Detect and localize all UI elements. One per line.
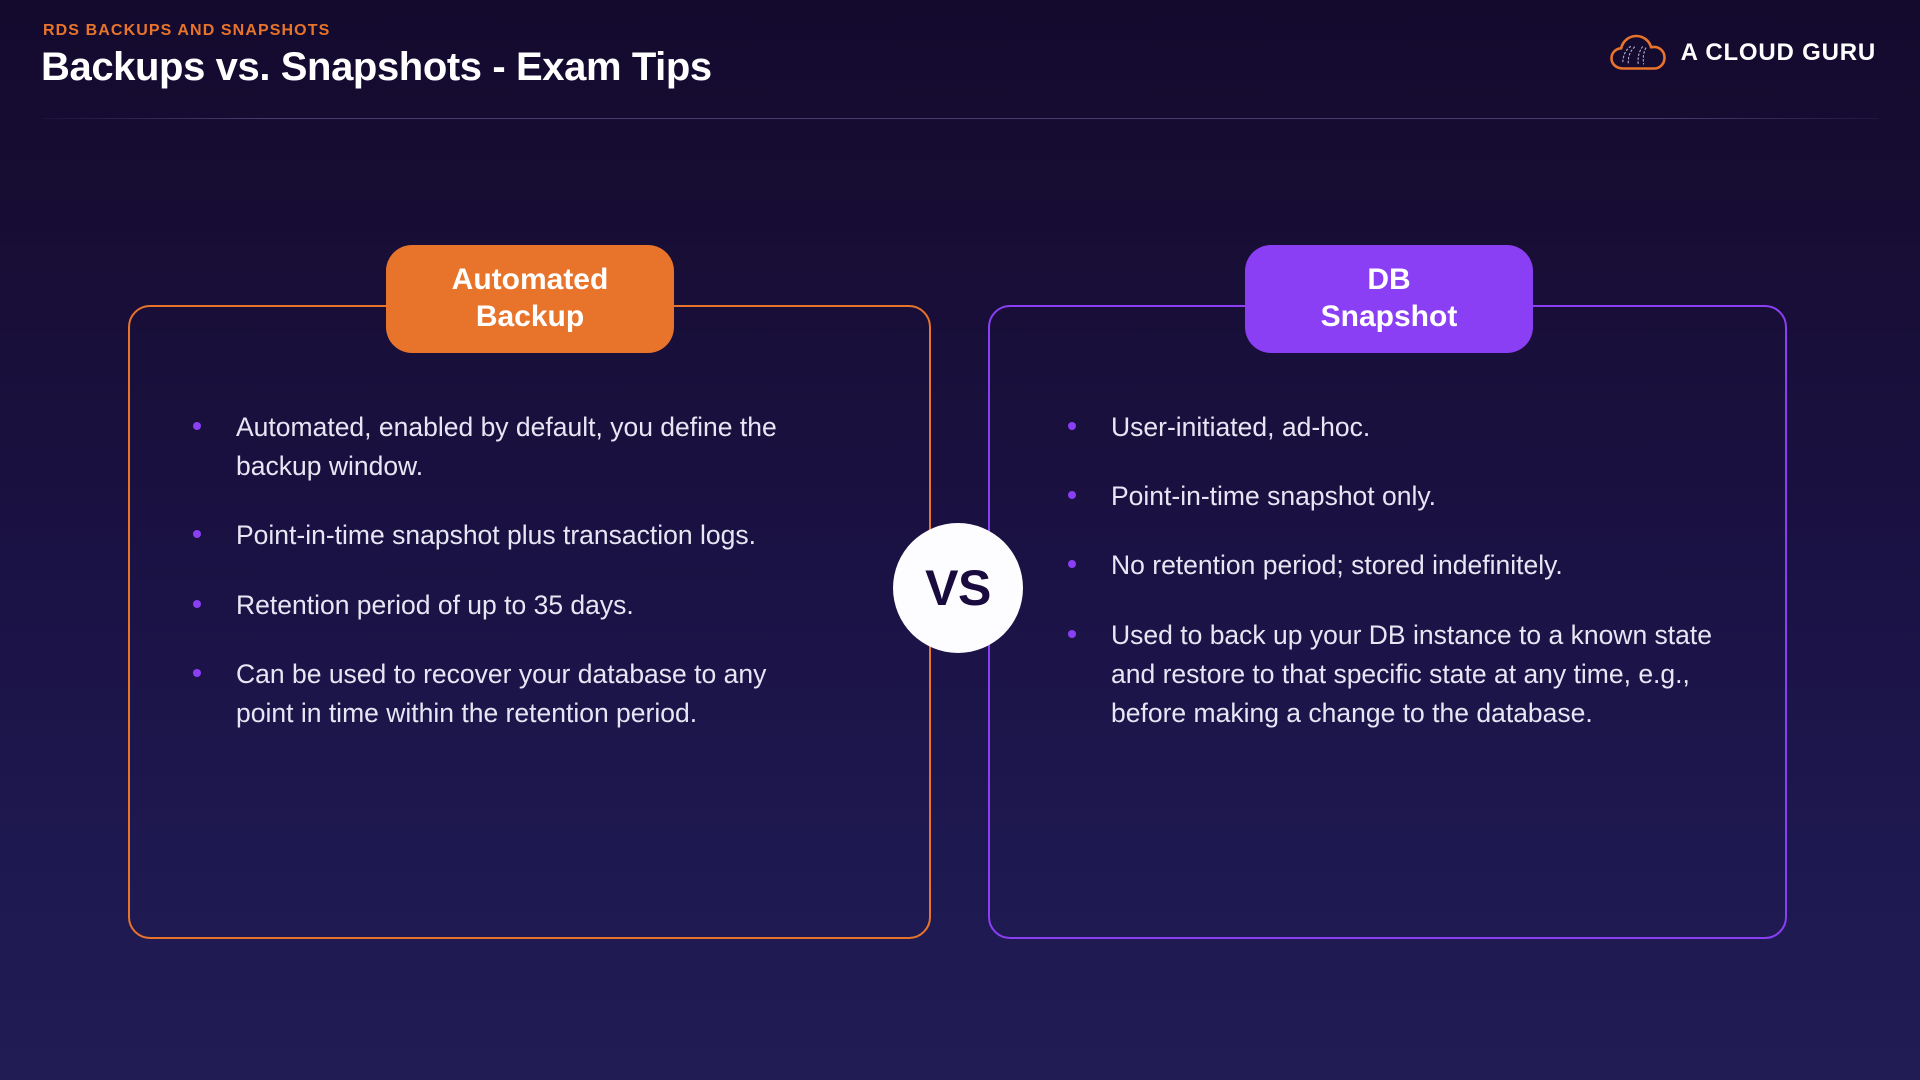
badge-line-2: Backup — [476, 299, 584, 336]
list-item-text: Can be used to recover your database to … — [236, 659, 766, 728]
versus-badge: VS — [893, 523, 1023, 653]
bullet-dot-icon — [1068, 491, 1076, 499]
header-divider — [42, 118, 1878, 119]
bullet-dot-icon — [193, 669, 201, 677]
bullet-dot-icon — [193, 600, 201, 608]
eyebrow-label: RDS BACKUPS AND SNAPSHOTS — [43, 22, 330, 40]
bullet-dot-icon — [1068, 560, 1076, 568]
badge-automated-backup: Automated Backup — [386, 245, 674, 353]
slide-header: RDS BACKUPS AND SNAPSHOTS Backups vs. Sn… — [0, 0, 1920, 130]
bullet-list-db-snapshot: User-initiated, ad-hoc. Point-in-time sn… — [1065, 408, 1725, 733]
list-item: Retention period of up to 35 days. — [190, 586, 830, 625]
list-item: Point-in-time snapshot only. — [1065, 477, 1725, 516]
brand-logo: A CLOUD GURU — [1609, 33, 1876, 73]
cloud-icon — [1609, 33, 1667, 73]
list-item-text: Used to back up your DB instance to a kn… — [1111, 620, 1712, 728]
list-item-text: Retention period of up to 35 days. — [236, 590, 634, 620]
badge-line-1: DB — [1367, 262, 1410, 299]
bullet-dot-icon — [193, 530, 201, 538]
bullet-dot-icon — [193, 422, 201, 430]
list-item: Point-in-time snapshot plus transaction … — [190, 516, 830, 555]
list-item: No retention period; stored indefinitely… — [1065, 546, 1725, 585]
badge-line-2: Snapshot — [1321, 299, 1458, 336]
bullet-dot-icon — [1068, 630, 1076, 638]
brand-logo-text: A CLOUD GURU — [1681, 39, 1876, 67]
badge-db-snapshot: DB Snapshot — [1245, 245, 1533, 353]
bullet-list-automated-backup: Automated, enabled by default, you defin… — [190, 408, 830, 733]
list-item-text: User-initiated, ad-hoc. — [1111, 412, 1370, 442]
list-item: Automated, enabled by default, you defin… — [190, 408, 830, 486]
page-title: Backups vs. Snapshots - Exam Tips — [41, 45, 712, 90]
bullet-dot-icon — [1068, 422, 1076, 430]
list-item: User-initiated, ad-hoc. — [1065, 408, 1725, 447]
versus-label: VS — [925, 559, 991, 617]
list-item-text: Point-in-time snapshot only. — [1111, 481, 1436, 511]
list-item: Can be used to recover your database to … — [190, 655, 830, 733]
list-item-text: No retention period; stored indefinitely… — [1111, 550, 1563, 580]
list-item-text: Point-in-time snapshot plus transaction … — [236, 520, 756, 550]
list-item: Used to back up your DB instance to a kn… — [1065, 616, 1725, 734]
list-item-text: Automated, enabled by default, you defin… — [236, 412, 777, 481]
badge-line-1: Automated — [452, 262, 609, 299]
